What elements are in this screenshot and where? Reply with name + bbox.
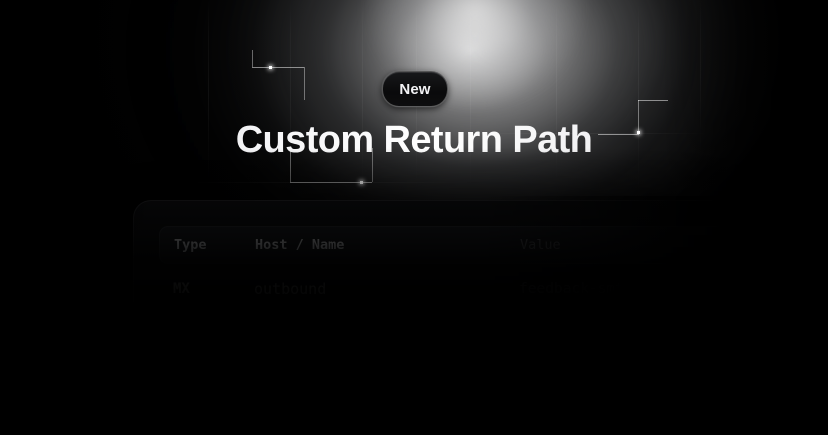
cell-type: TXT — [173, 332, 198, 348]
new-badge-label: New — [399, 82, 430, 97]
table-header-row: Type Host / Name Value — [159, 226, 734, 264]
corner-bracket-top-left — [252, 50, 312, 100]
cell-value: p=MIGfMA0GCSq — [519, 383, 633, 399]
cell-host: outbound — [254, 331, 326, 349]
cell-type: TXT — [173, 383, 198, 399]
new-badge: New — [382, 71, 448, 107]
promo-banner: New Custom Return Path Type Host / Name … — [0, 0, 828, 435]
dns-records-table: Type Host / Name Value MX outbound feedb… — [159, 226, 734, 435]
page-title: Custom Return Path — [0, 116, 828, 164]
column-header-host: Host / Name — [255, 237, 344, 253]
table-row[interactable]: TXT outbound v=spf1 include — [159, 315, 734, 366]
cell-host: outbound — [254, 280, 326, 298]
dns-records-card: Type Host / Name Value MX outbound feedb… — [133, 200, 735, 435]
table-row[interactable]: TXT resend._domainkey p=MIGfMA0GCSq — [159, 366, 734, 417]
column-header-type: Type — [174, 237, 207, 253]
table-row[interactable]: MX outbound feedback-smtp — [159, 264, 734, 315]
cell-type: MX — [173, 281, 190, 297]
cell-value: v=spf1 include — [519, 332, 641, 348]
cell-value: feedback-smtp — [519, 281, 633, 297]
column-header-value: Value — [520, 237, 561, 253]
cell-host: resend._domainkey — [254, 382, 408, 400]
